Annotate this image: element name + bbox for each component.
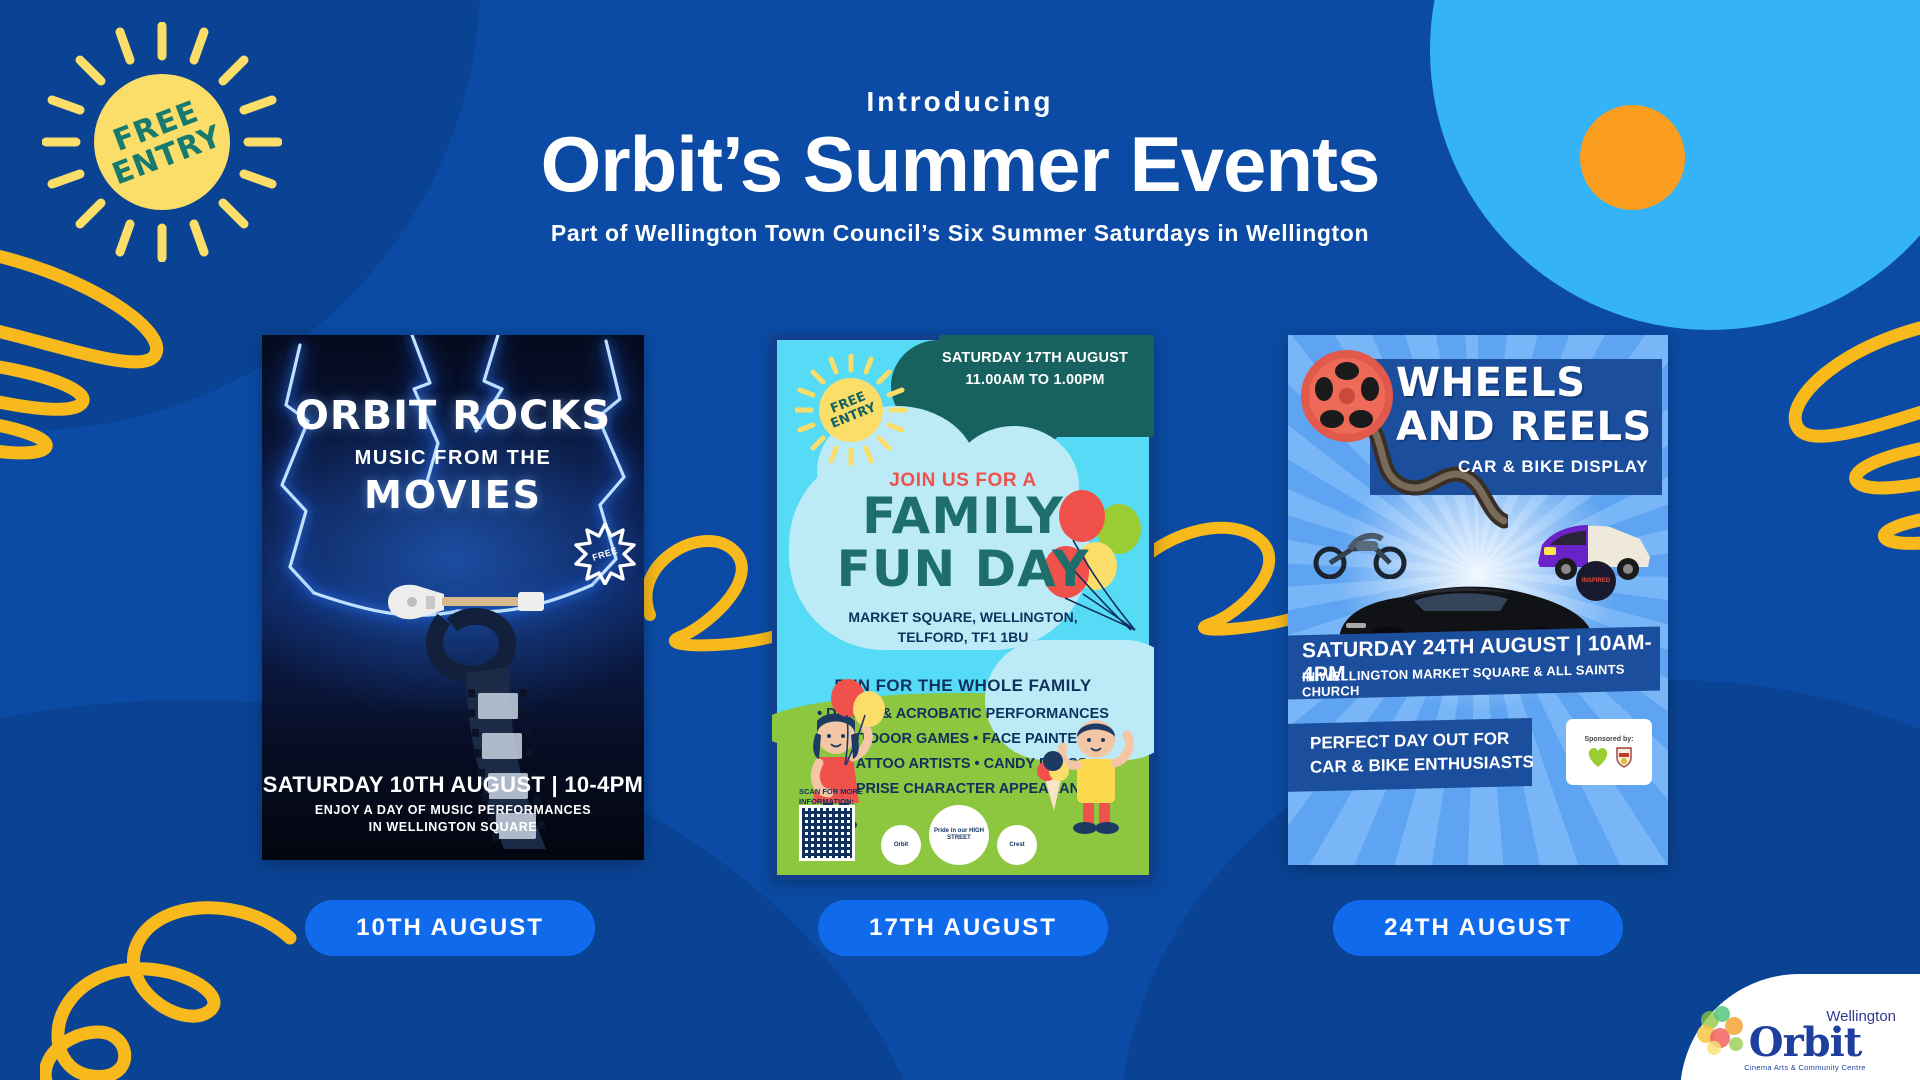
wr-sponsor-label: Sponsored by:	[1584, 736, 1633, 743]
ice-cream-icon	[1033, 751, 1073, 813]
poster-orbit-rocks[interactable]: ORBIT ROCKS MUSIC FROM THE MOVIES	[262, 335, 644, 860]
ffd-title-line1: FAMILY	[777, 492, 1149, 540]
rocks-date: SATURDAY 10TH AUGUST | 10-4PM	[262, 772, 644, 798]
logo-orbit: Orbit	[881, 825, 921, 865]
ffd-address-line1: MARKET SQUARE, WELLINGTON,	[848, 609, 1077, 625]
ffd-title-line2: FUN DAY	[777, 545, 1149, 593]
poster-canvas: FREE ENTRY Introducing Orbit’s Summer Ev…	[0, 0, 1920, 1080]
love-wellington-heart-icon	[1586, 746, 1610, 768]
rocks-note: ENJOY A DAY OF MUSIC PERFORMANCES IN WEL…	[262, 802, 644, 836]
poster-row: ORBIT ROCKS MUSIC FROM THE MOVIES	[0, 335, 1920, 880]
ffd-qr-label-line1: SCAN FOR MORE	[799, 787, 863, 796]
poster-orbit-rocks-art: ORBIT ROCKS MUSIC FROM THE MOVIES	[262, 335, 644, 860]
date-pill-17th-august[interactable]: 17TH AUGUST	[818, 900, 1108, 956]
wr-tagline-line1: PERFECT DAY OUT FOR	[1310, 729, 1509, 753]
ffd-date-line1: SATURDAY 17TH AUGUST	[942, 350, 1128, 366]
date-pill-10th-august[interactable]: 10TH AUGUST	[305, 900, 595, 956]
ffd-qr-label: SCAN FOR MORE INFORMATION:	[799, 787, 877, 807]
qr-code-icon[interactable]	[799, 805, 855, 861]
wr-tagline-line2: CAR & BIKE ENTHUSIASTS	[1310, 752, 1534, 776]
brand-sub-text: Cinema Arts & Community Centre	[1744, 1063, 1866, 1072]
wr-subtitle: CAR & BIKE DISPLAY	[1458, 457, 1648, 477]
poster-wheels-and-reels-art: WHEELS AND REELS CAR & BIKE DISPLAY	[1288, 335, 1668, 865]
logo-town-crest: Crest	[997, 825, 1037, 865]
rocks-title: ORBIT ROCKS	[262, 393, 644, 439]
wr-partner-badge-label: INSPIRED	[1582, 578, 1610, 585]
logo-crest-label: Crest	[1009, 842, 1024, 849]
rocks-subtitle-2: MOVIES	[262, 473, 644, 517]
wr-tagline: PERFECT DAY OUT FOR CAR & BIKE ENTHUSIAS…	[1310, 726, 1534, 779]
wr-sponsor-card: Sponsored by:	[1566, 719, 1652, 785]
wr-film-reel-icon	[1298, 347, 1396, 445]
girl-balloon-strings-icon	[839, 713, 879, 767]
wr-title-line2: AND REELS	[1396, 407, 1652, 448]
poster-family-fun-day-art: SATURDAY 17TH AUGUST 11.00AM TO 1.00PM	[772, 335, 1154, 880]
intro-text: Introducing	[0, 86, 1920, 118]
brand-main-text: Orbit	[1749, 1025, 1862, 1062]
ffd-address: MARKET SQUARE, WELLINGTON, TELFORD, TF1 …	[777, 608, 1149, 647]
rocks-note-line1: ENJOY A DAY OF MUSIC PERFORMANCES	[315, 803, 591, 817]
date-pill-row: 10TH AUGUST 17TH AUGUST 24TH AUGUST	[0, 900, 1920, 960]
logo-orbit-label: Orbit	[894, 842, 908, 849]
ffd-date-block: SATURDAY 17TH AUGUST 11.00AM TO 1.00PM	[935, 348, 1135, 392]
free-entry-sun-badge: FREE ENTRY	[42, 22, 282, 262]
rocks-note-line2: IN WELLINGTON SQUARE	[369, 820, 538, 834]
ffd-date-line2: 11.00AM TO 1.00PM	[965, 372, 1104, 388]
wr-partner-badge: INSPIRED	[1576, 561, 1616, 601]
wr-title-line1: WHEELS	[1396, 363, 1586, 404]
date-pill-24th-august[interactable]: 24TH AUGUST	[1333, 900, 1623, 956]
wellington-orbit-logo[interactable]: Wellington Orbit Cinema Arts & Community…	[1680, 974, 1920, 1080]
town-crest-icon	[1615, 746, 1633, 768]
poster-wheels-and-reels[interactable]: WHEELS AND REELS CAR & BIKE DISPLAY	[1288, 335, 1668, 865]
logo-pride-label: Pride in our HIGH STREET	[933, 828, 985, 841]
ffd-address-line2: TELFORD, TF1 1BU	[898, 629, 1029, 645]
rocks-subtitle-1: MUSIC FROM THE	[262, 447, 644, 470]
page-subtitle: Part of Wellington Town Council’s Six Su…	[0, 220, 1920, 247]
poster-family-fun-day[interactable]: SATURDAY 17TH AUGUST 11.00AM TO 1.00PM	[772, 335, 1154, 880]
ffd-sponsor-logos: Orbit Pride in our HIGH STREET Crest	[881, 805, 1037, 865]
logo-pride-high-street: Pride in our HIGH STREET	[929, 805, 989, 865]
